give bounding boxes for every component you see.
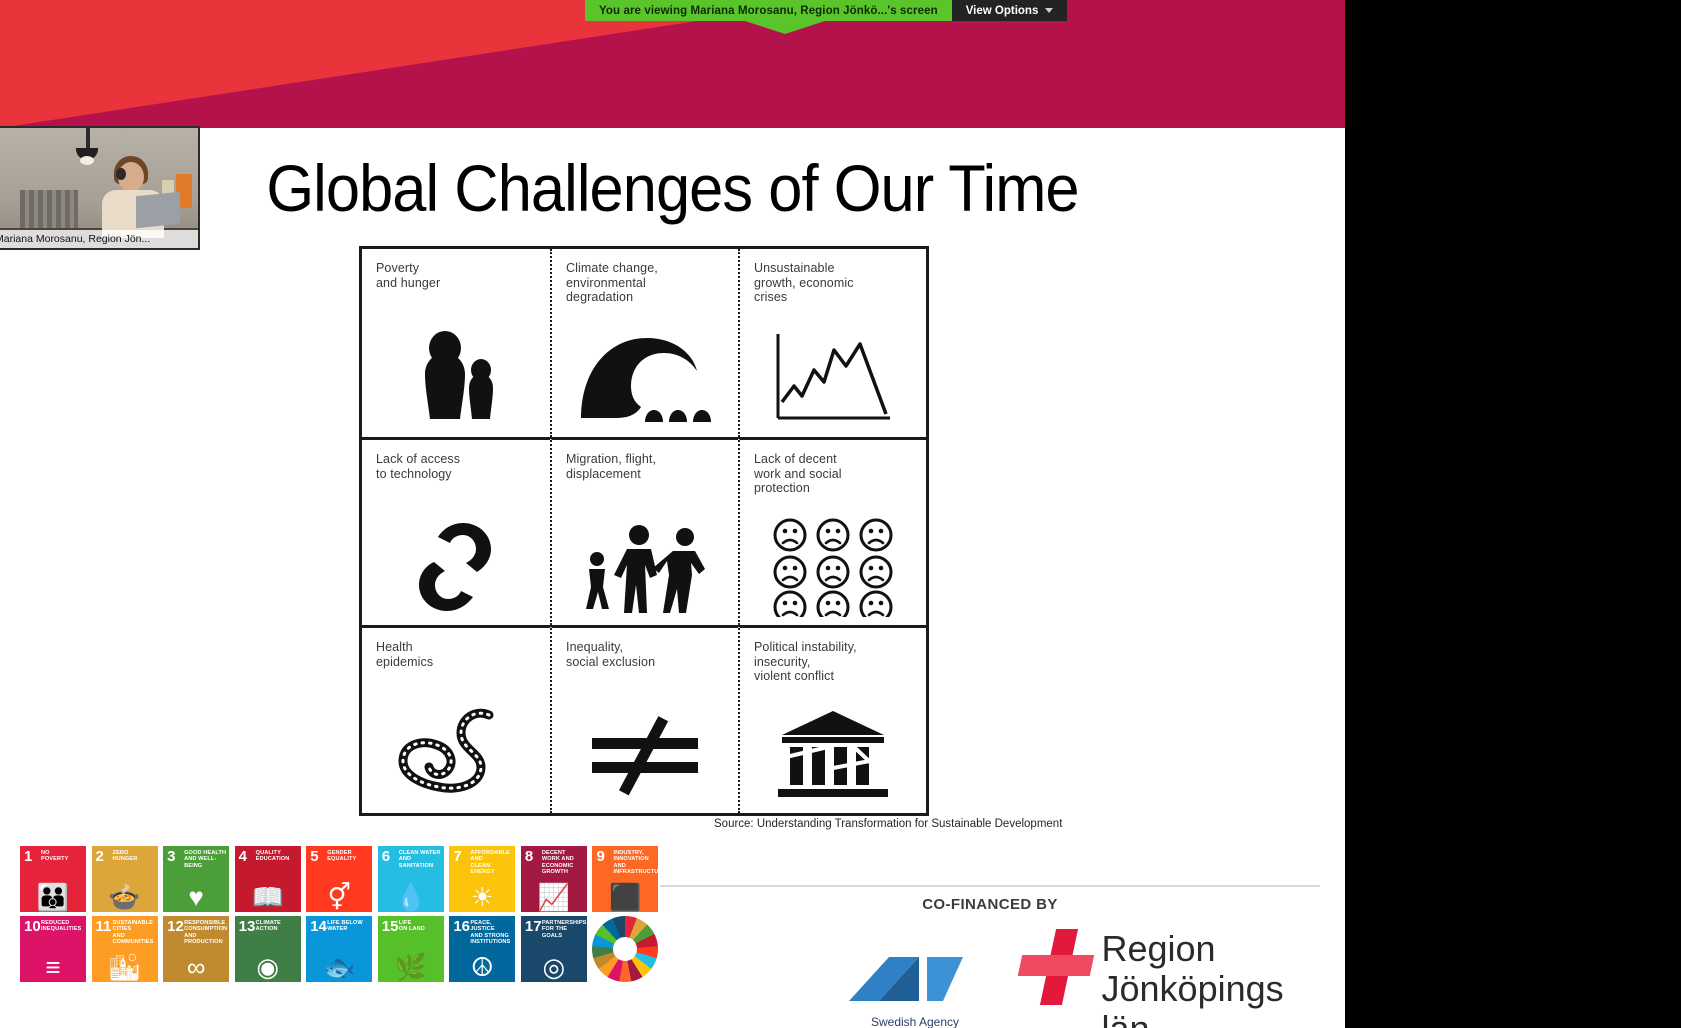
sdg-goal-number: 4	[239, 849, 247, 864]
view-options-button[interactable]: View Options	[952, 0, 1068, 21]
wave-flood-icon	[552, 323, 738, 431]
matrix-cell-label: Lack of decent work and social protectio…	[754, 452, 912, 496]
falling-chart-icon	[740, 323, 926, 431]
matrix-cell-label: Poverty and hunger	[376, 261, 536, 290]
matrix-cell-label: Political instability, insecurity, viole…	[754, 640, 912, 684]
sdg-goal-3: 3GOOD HEALTH AND WELL-BEING♥	[163, 846, 229, 912]
matrix-cell-political-instability: Political instability, insecurity, viole…	[738, 625, 926, 813]
sdg-goal-name: REDUCED INEQUALITIES	[41, 920, 84, 933]
sdg-goal-number: 7	[453, 849, 461, 864]
sdg-goal-14: 14LIFE BELOW WATER🐟	[306, 916, 372, 982]
sdg-goal-11: 11SUSTAINABLE CITIES AND COMMUNITIES🏙	[92, 916, 158, 982]
sdg-goal-name: NO POVERTY	[41, 850, 84, 863]
sdg-goal-glyph-icon: ☮	[449, 954, 515, 980]
sdg-goal-12: 12RESPONSIBLE CONSUMPTION AND PRODUCTION…	[163, 916, 229, 982]
lamp-icon	[86, 128, 90, 150]
swedish-agency-caption: Swedish Agency	[790, 1015, 1040, 1028]
matrix-cell-label: Unsustainable growth, economic crises	[754, 261, 912, 305]
region-logo-line2: Jönköpings län	[1102, 969, 1341, 1028]
participant-name-label: Mariana Morosanu, Region Jön...	[0, 230, 198, 248]
source-caption: Source: Understanding Transformation for…	[714, 818, 1062, 830]
sdg-goal-number: 6	[382, 849, 390, 864]
sdg-goal-10: 10REDUCED INEQUALITIES≡	[20, 916, 86, 982]
view-options-label: View Options	[966, 5, 1039, 17]
sdg-goal-number: 14	[310, 919, 327, 934]
sdg-goal-name: PEACE, JUSTICE AND STRONG INSTITUTIONS	[470, 920, 513, 945]
matrix-cell-climate-change: Climate change, environmental degradatio…	[550, 249, 738, 437]
sdg-goal-number: 8	[525, 849, 533, 864]
sdg-goal-number: 12	[167, 919, 184, 934]
sdg-goal-glyph-icon: ♥	[163, 884, 229, 910]
sdg-goal-name: GENDER EQUALITY	[327, 850, 370, 863]
sdg-goal-9: 9INDUSTRY, INNOVATION AND INFRASTRUCTURE…	[592, 846, 658, 912]
sdg-goal-number: 13	[239, 919, 256, 934]
sdg-goal-glyph-icon: 📈	[521, 884, 587, 910]
sdg-goal-name: LIFE BELOW WATER	[327, 920, 370, 933]
sdg-goal-number: 15	[382, 919, 399, 934]
sdg-goal-number: 11	[96, 919, 112, 934]
sdg-goal-name: QUALITY EDUCATION	[256, 850, 299, 863]
sdg-goal-glyph-icon: 💧	[378, 884, 444, 910]
sdg-goal-glyph-icon: ∞	[163, 954, 229, 980]
sdg-goal-glyph-icon: 🏙	[92, 954, 158, 980]
poverty-family-icon	[362, 323, 550, 431]
sdg-goal-1: 1NO POVERTY👪	[20, 846, 86, 912]
broken-chain-icon	[362, 514, 550, 619]
matrix-cell-inequality: Inequality, social exclusion	[550, 625, 738, 813]
sdg-goal-glyph-icon: ◎	[521, 954, 587, 980]
sdg-goal-number: 1	[24, 849, 32, 864]
sdg-goal-15: 15LIFE ON LAND🌿	[378, 916, 444, 982]
sdg-goal-number: 9	[596, 849, 604, 864]
lamp-glow-shape	[80, 156, 94, 165]
shared-screen-area: Global Challenges of Our Time Poverty an…	[0, 0, 1345, 1028]
sdg-icon-strip: 1NO POVERTY👪2ZERO HUNGER🍲3GOOD HEALTH AN…	[20, 846, 660, 982]
radiator-shape	[20, 190, 78, 230]
region-logo-text: Region Jönköpings län	[1102, 929, 1341, 1028]
laptop-shape	[136, 192, 180, 229]
matrix-cell-label: Climate change, environmental degradatio…	[566, 261, 724, 305]
sdg-goal-number: 10	[24, 919, 41, 934]
sdg-goal-name: RESPONSIBLE CONSUMPTION AND PRODUCTION	[184, 920, 227, 945]
sdg-goal-glyph-icon: 👪	[20, 884, 86, 910]
sdg-goal-glyph-icon: 📖	[235, 884, 301, 910]
video-panel	[1345, 0, 1681, 1028]
matrix-cell-lack-of-decent-work: Lack of decent work and social protectio…	[738, 437, 926, 625]
sdg-goal-name: CLIMATE ACTION	[256, 920, 299, 933]
sdg-goal-name: CLEAN WATER AND SANITATION	[399, 850, 442, 869]
sdg-goal-16: 16PEACE, JUSTICE AND STRONG INSTITUTIONS…	[449, 916, 515, 982]
matrix-cell-poverty-and-hunger: Poverty and hunger	[362, 249, 550, 437]
footer-divider	[660, 885, 1320, 887]
matrix-cell-health-epidemics: Health epidemics	[362, 625, 550, 813]
sdg-goal-glyph-icon: ◉	[235, 954, 301, 980]
sdg-goal-4: 4QUALITY EDUCATION📖	[235, 846, 301, 912]
sdg-goal-name: LIFE ON LAND	[399, 920, 442, 933]
sdg-goal-glyph-icon: 🐟	[306, 954, 372, 980]
zoom-screenshare-banner: You are viewing Mariana Morosanu, Region…	[585, 0, 1067, 21]
sdg-colour-wheel-icon	[592, 916, 658, 982]
sdg-goal-name: SUSTAINABLE CITIES AND COMMUNITIES	[113, 920, 156, 945]
sdg-goal-6: 6CLEAN WATER AND SANITATION💧	[378, 846, 444, 912]
sdg-goal-name: PARTNERSHIPS FOR THE GOALS	[542, 920, 585, 939]
matrix-cell-lack-of-technology: Lack of access to technology	[362, 437, 550, 625]
sdg-goal-name: ZERO HUNGER	[113, 850, 156, 863]
sdg-goal-5: 5GENDER EQUALITY⚥	[306, 846, 372, 912]
sdg-goal-13: 13CLIMATE ACTION◉	[235, 916, 301, 982]
sdg-goal-number: 2	[96, 849, 104, 864]
migrating-family-icon	[552, 514, 738, 619]
sdg-goal-glyph-icon: ☀	[449, 884, 515, 910]
sad-faces-grid-icon	[740, 514, 926, 619]
matrix-cell-label: Inequality, social exclusion	[566, 640, 724, 669]
sdg-goal-2: 2ZERO HUNGER🍲	[92, 846, 158, 912]
broken-parliament-icon	[740, 702, 926, 807]
sdg-goal-number: 5	[310, 849, 318, 864]
sdg-goal-glyph-icon: ⬛	[592, 884, 658, 910]
slide-body: Global Challenges of Our Time Poverty an…	[0, 128, 1345, 1028]
cofinanced-label: CO-FINANCED BY	[660, 896, 1320, 913]
sdg-goal-7: 7AFFORDABLE AND CLEAN ENERGY☀	[449, 846, 515, 912]
sdg-goal-number: 3	[167, 849, 175, 864]
matrix-cell-label: Lack of access to technology	[376, 452, 536, 481]
sdg-goal-17: 17PARTNERSHIPS FOR THE GOALS◎	[521, 916, 587, 982]
sdg-goal-name: AFFORDABLE AND CLEAN ENERGY	[470, 850, 513, 875]
page-title: Global Challenges of Our Time	[47, 150, 1298, 226]
footer-logo-row: Swedish Agency Region Jönköpings län	[660, 923, 1340, 1028]
headset-icon	[116, 168, 126, 180]
challenges-matrix: Poverty and hunger Climate change, envir…	[359, 246, 929, 816]
sdg-goal-glyph-icon: ⚥	[306, 884, 372, 910]
sdg-goal-name: GOOD HEALTH AND WELL-BEING	[184, 850, 227, 869]
viewing-screen-pill: You are viewing Mariana Morosanu, Region…	[585, 0, 952, 21]
chevron-down-icon	[1045, 8, 1053, 13]
sdg-goal-glyph-icon: ≡	[20, 954, 86, 980]
matrix-cell-label: Health epidemics	[376, 640, 536, 669]
sdg-goal-name: DECENT WORK AND ECONOMIC GROWTH	[542, 850, 585, 875]
sdg-goal-name: INDUSTRY, INNOVATION AND INFRASTRUCTURE	[613, 850, 656, 875]
matrix-cell-unsustainable-growth: Unsustainable growth, economic crises	[738, 249, 926, 437]
sdg-goal-glyph-icon: 🍲	[92, 884, 158, 910]
region-cross-icon	[1020, 929, 1092, 1005]
sdg-goal-number: 16	[453, 919, 470, 934]
region-jonkoping-logo: Region Jönköpings län	[1020, 929, 1340, 1028]
sdg-goal-glyph-icon: 🌿	[378, 954, 444, 980]
participant-video-tile[interactable]: Mariana Morosanu, Region Jön...	[0, 126, 200, 250]
matrix-cell-label: Migration, flight, displacement	[566, 452, 724, 481]
sdg-goal-8: 8DECENT WORK AND ECONOMIC GROWTH📈	[521, 846, 587, 912]
region-logo-line1: Region	[1102, 929, 1341, 969]
sdg-goal-number: 17	[525, 919, 542, 934]
not-equal-icon	[552, 702, 738, 807]
matrix-cell-migration: Migration, flight, displacement	[550, 437, 738, 625]
swedish-agency-logo-icon	[845, 935, 975, 1005]
virus-strand-icon	[362, 702, 550, 807]
